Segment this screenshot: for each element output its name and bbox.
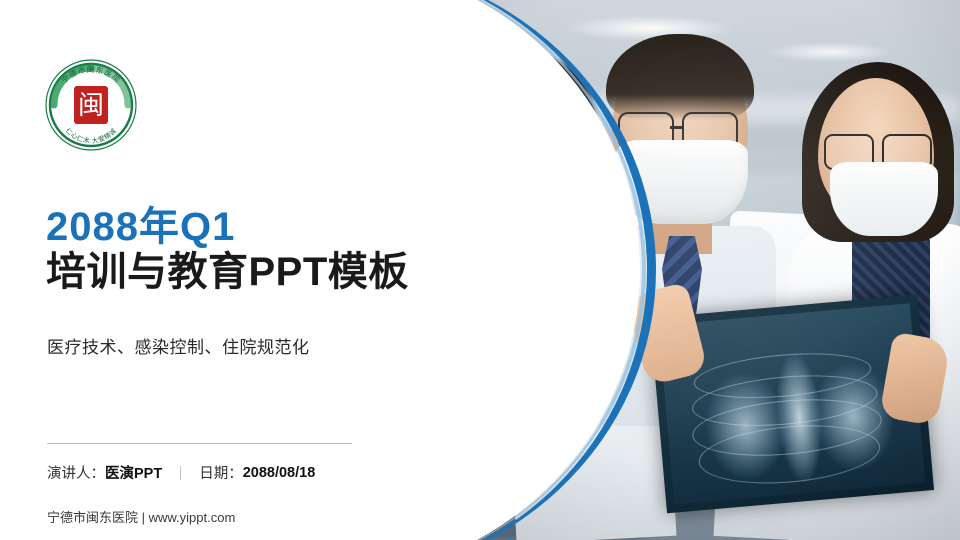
presentation-title-slide: 闽 宁德市闽东医院 仁心仁术 大爱精诚 2088年Q1 培训与教育PPT模板 医… [0,0,960,540]
meta-separator [180,466,181,480]
logo-center-glyph: 闽 [78,91,104,121]
ningde-mindong-hospital-logo: 闽 宁德市闽东医院 仁心仁术 大爱精诚 [42,56,140,154]
date-value: 2088/08/18 [243,465,316,481]
title-line-main: 培训与教育PPT模板 [46,250,406,295]
speaker-label: 演讲人： [47,462,105,483]
date-label: 日期： [199,462,243,483]
slide-content: 闽 宁德市闽东医院 仁心仁术 大爱精诚 2088年Q1 培训与教育PPT模板 医… [0,0,420,540]
title-line-year: 2088年Q1 [46,205,406,250]
subtitle: 医疗技术、感染控制、住院规范化 [47,333,310,358]
footer-text: 宁德市闽东医院 | www.yippt.com [47,507,235,526]
speaker-value: 医演PPT [105,462,162,483]
divider-line [47,443,352,444]
meta-row: 演讲人： 医演PPT 日期： 2088/08/18 [47,462,315,483]
page-title: 2088年Q1 培训与教育PPT模板 [46,205,406,295]
